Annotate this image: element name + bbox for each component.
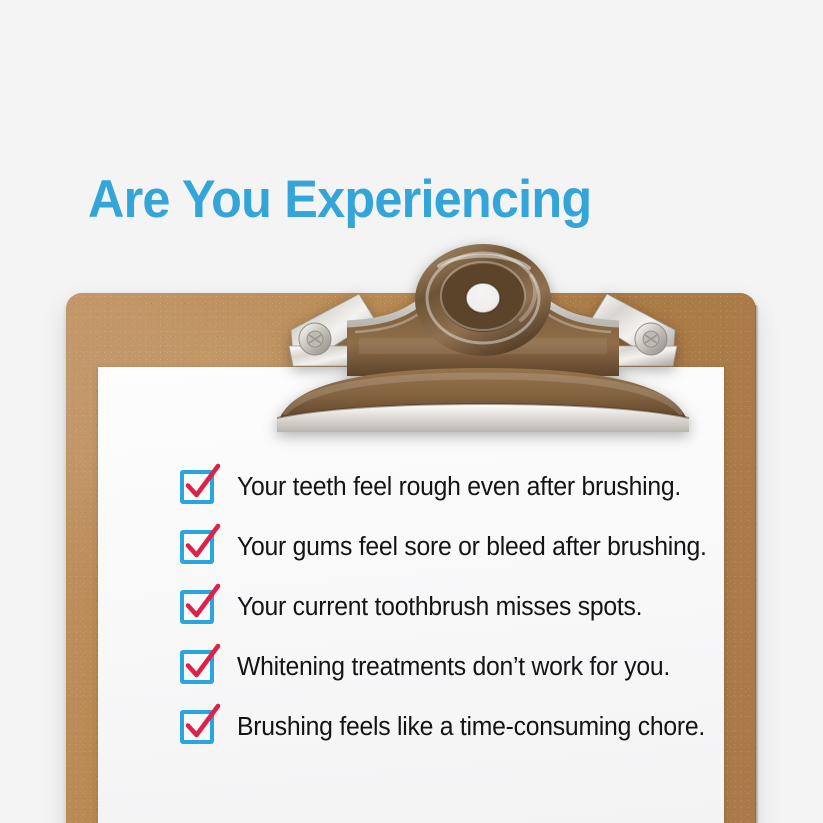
checkmark-icon	[177, 581, 225, 629]
checkbox-missed-spots[interactable]	[180, 590, 214, 624]
checkmark-icon	[177, 521, 225, 569]
list-item[interactable]: Whitening treatments don’t work for you.	[180, 637, 716, 697]
list-item[interactable]: Your gums feel sore or bleed after brush…	[180, 517, 716, 577]
clip-knob	[415, 244, 551, 356]
checkbox-rough-teeth[interactable]	[180, 470, 214, 504]
list-item-label: Your current toothbrush misses spots.	[237, 593, 642, 621]
promo-graphic: Are You Experiencing Any Of These Sympto…	[0, 0, 823, 823]
checkbox-time-consuming[interactable]	[180, 710, 214, 744]
clipboard-paper: Your teeth feel rough even after brushin…	[98, 367, 724, 823]
list-item-label: Your teeth feel rough even after brushin…	[237, 473, 681, 501]
list-item[interactable]: Your current toothbrush misses spots.	[180, 577, 716, 637]
list-item[interactable]: Brushing feels like a time-consuming cho…	[180, 697, 716, 757]
list-item[interactable]: Your teeth feel rough even after brushin…	[180, 457, 716, 517]
list-item-label: Your gums feel sore or bleed after brush…	[237, 533, 707, 561]
clipboard-clip-icon	[263, 242, 703, 434]
clipboard: Your teeth feel rough even after brushin…	[66, 293, 756, 823]
list-item-label: Whitening treatments don’t work for you.	[237, 653, 670, 681]
checkmark-icon	[177, 461, 225, 509]
checkbox-sore-gums[interactable]	[180, 530, 214, 564]
headline-line-1: Are You Experiencing	[88, 169, 753, 230]
clip-blade	[277, 368, 689, 432]
list-item-label: Brushing feels like a time-consuming cho…	[237, 713, 705, 741]
checkbox-whitening-fails[interactable]	[180, 650, 214, 684]
checkmark-icon	[177, 641, 225, 689]
board-edge-shadow	[755, 305, 759, 823]
checkmark-icon	[177, 701, 225, 749]
symptom-checklist: Your teeth feel rough even after brushin…	[180, 457, 716, 757]
clipboard-clip[interactable]	[263, 242, 703, 434]
